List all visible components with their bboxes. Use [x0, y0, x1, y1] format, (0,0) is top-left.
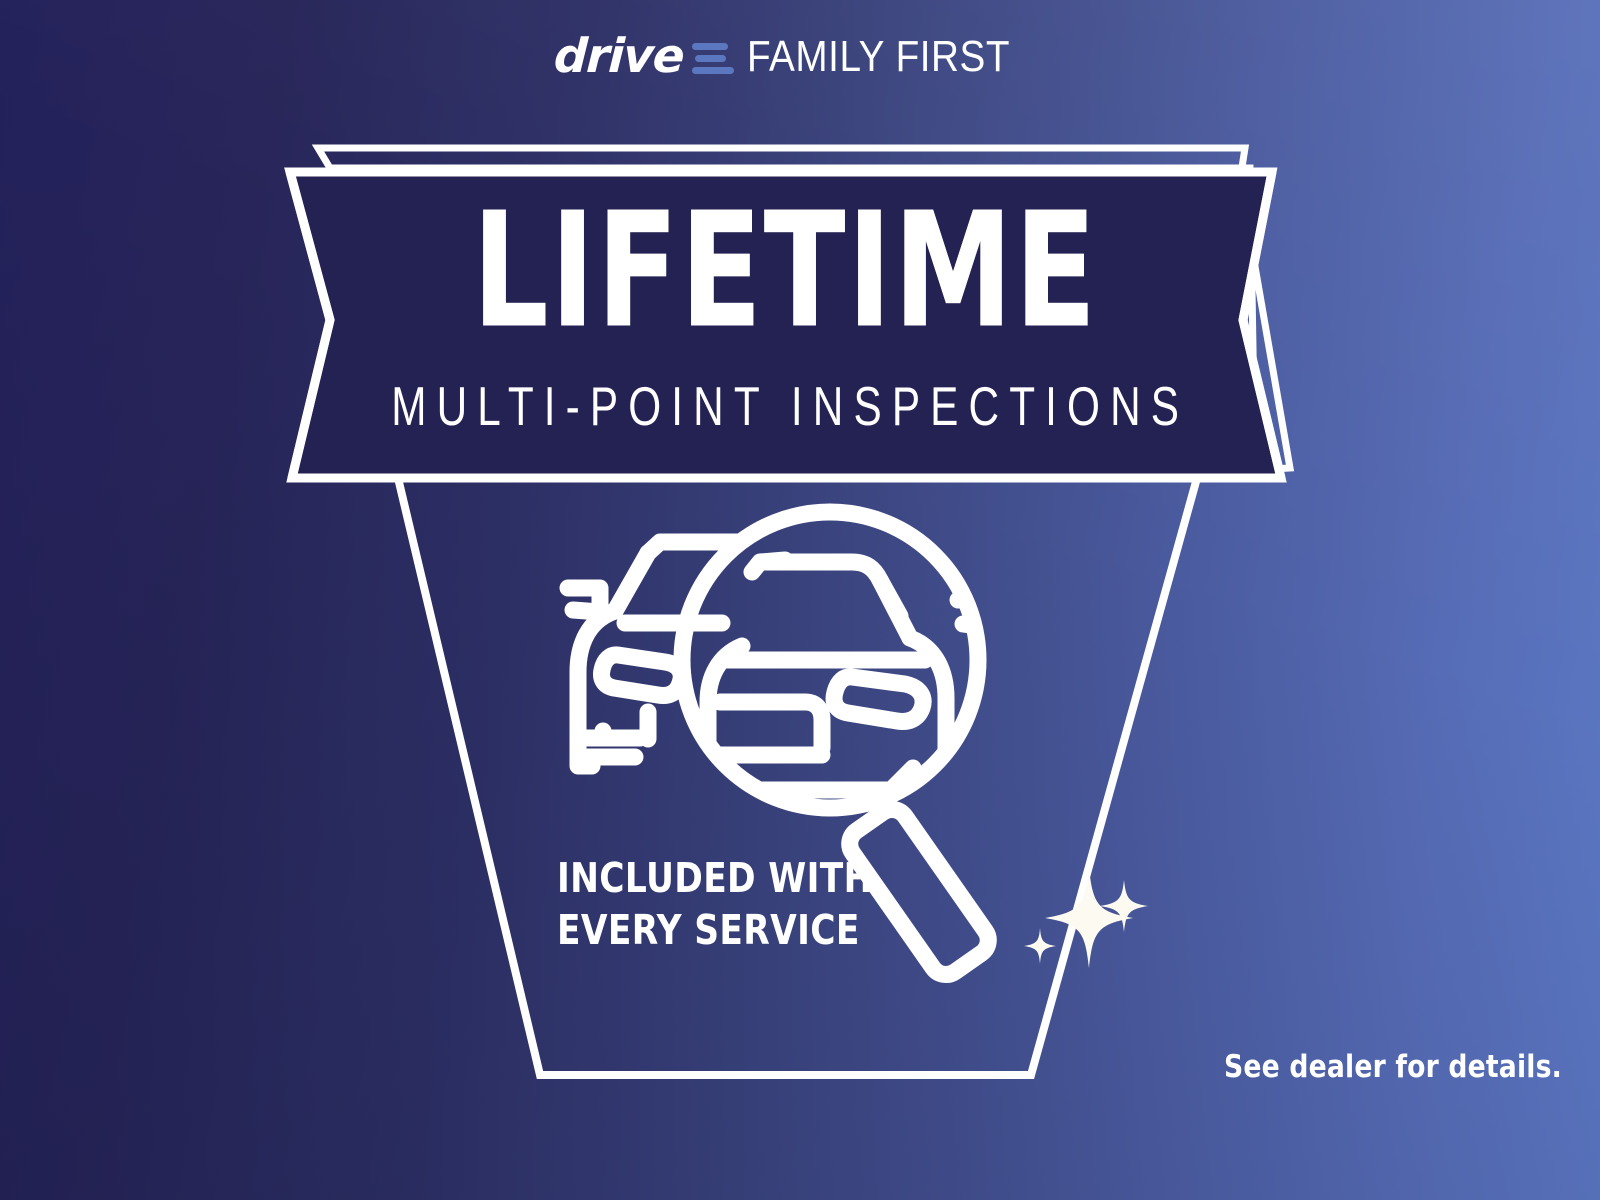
- sparkle-icon-small: [1024, 928, 1056, 964]
- disclaimer-text: See dealer for details.: [1224, 1052, 1562, 1083]
- ribbon-banner: [290, 172, 1281, 478]
- magnified-car-detail: [708, 560, 995, 806]
- callout-text: INCLUDED WITH EVERY SERVICE: [557, 852, 918, 957]
- callout-line-1: INCLUDED WITH: [557, 852, 918, 904]
- sparkle-icon-large: [1045, 868, 1133, 968]
- callout-line-2: EVERY SERVICE: [557, 904, 918, 956]
- badge-artwork: [0, 0, 1600, 1200]
- poster-canvas: drive FAMILY FIRST: [0, 0, 1600, 1200]
